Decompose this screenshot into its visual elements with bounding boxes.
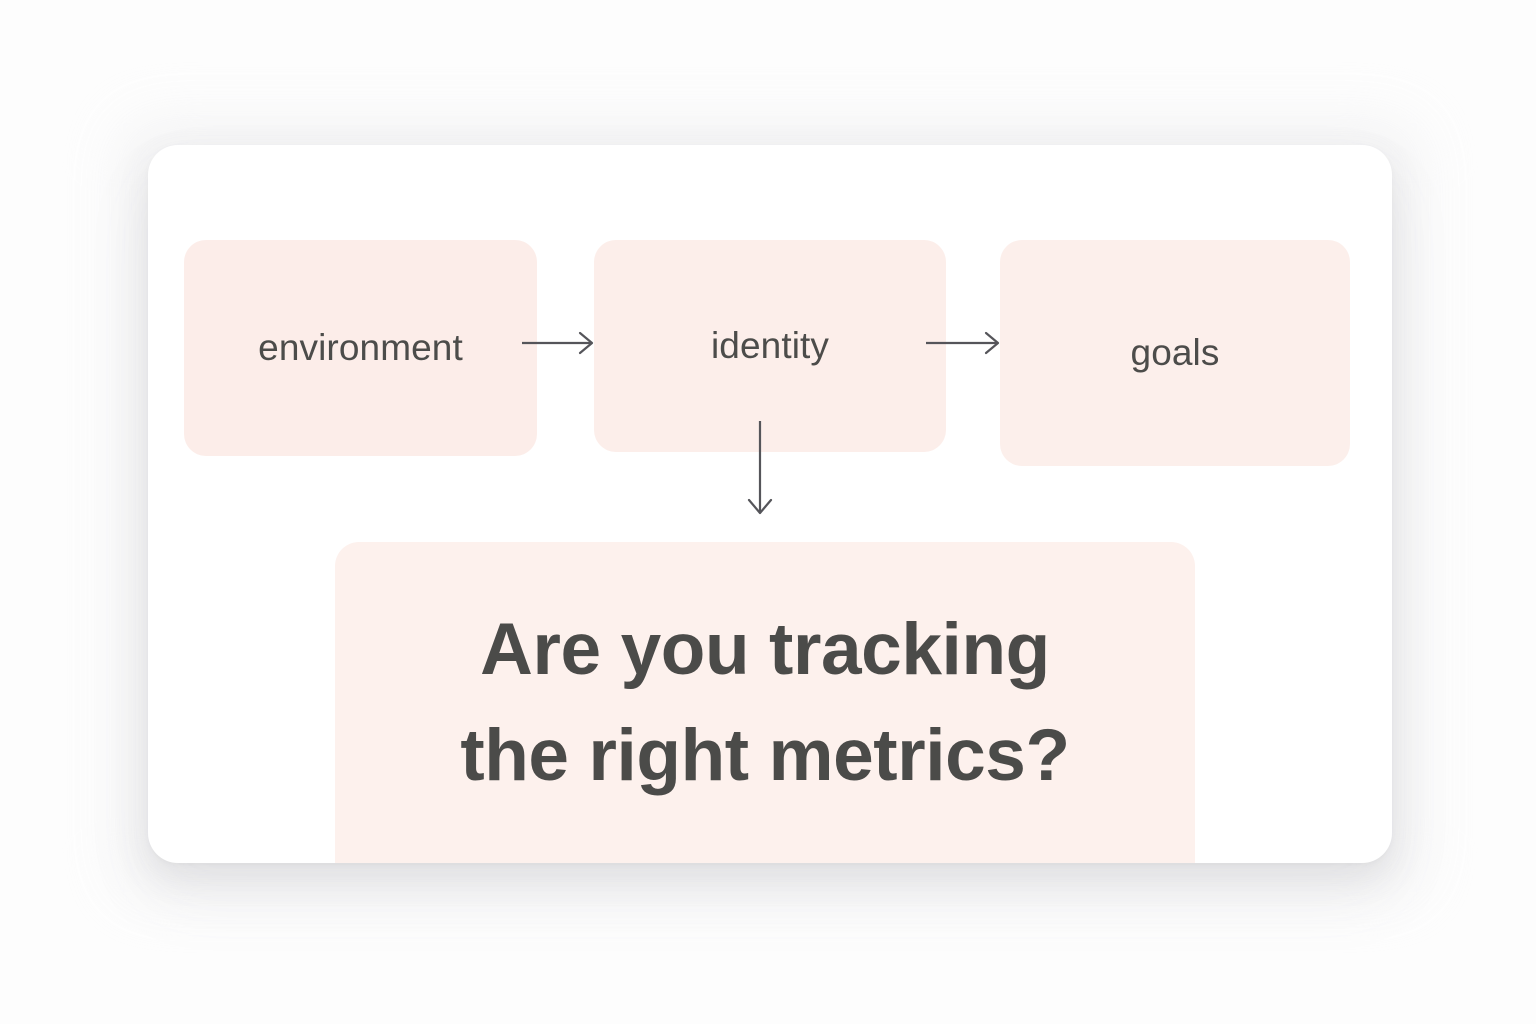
question-headline: Are you tracking the right metrics? [335,597,1195,809]
question-headline-line-2: the right metrics? [335,703,1195,809]
diagram-canvas: environment identity goals Are you track… [148,145,1392,863]
diagram-node-environment-label: environment [258,328,463,369]
diagram-card: environment identity goals Are you track… [148,145,1392,863]
diagram-node-goals[interactable]: goals [1000,240,1350,466]
diagram-node-identity-label: identity [711,326,829,367]
diagram-node-question[interactable]: Are you tracking the right metrics? [335,542,1195,863]
diagram-node-identity[interactable]: identity [594,240,946,452]
page-background: environment identity goals Are you track… [0,0,1536,1024]
diagram-node-environment[interactable]: environment [184,240,537,456]
question-headline-line-1: Are you tracking [335,597,1195,703]
diagram-node-goals-label: goals [1131,333,1220,374]
